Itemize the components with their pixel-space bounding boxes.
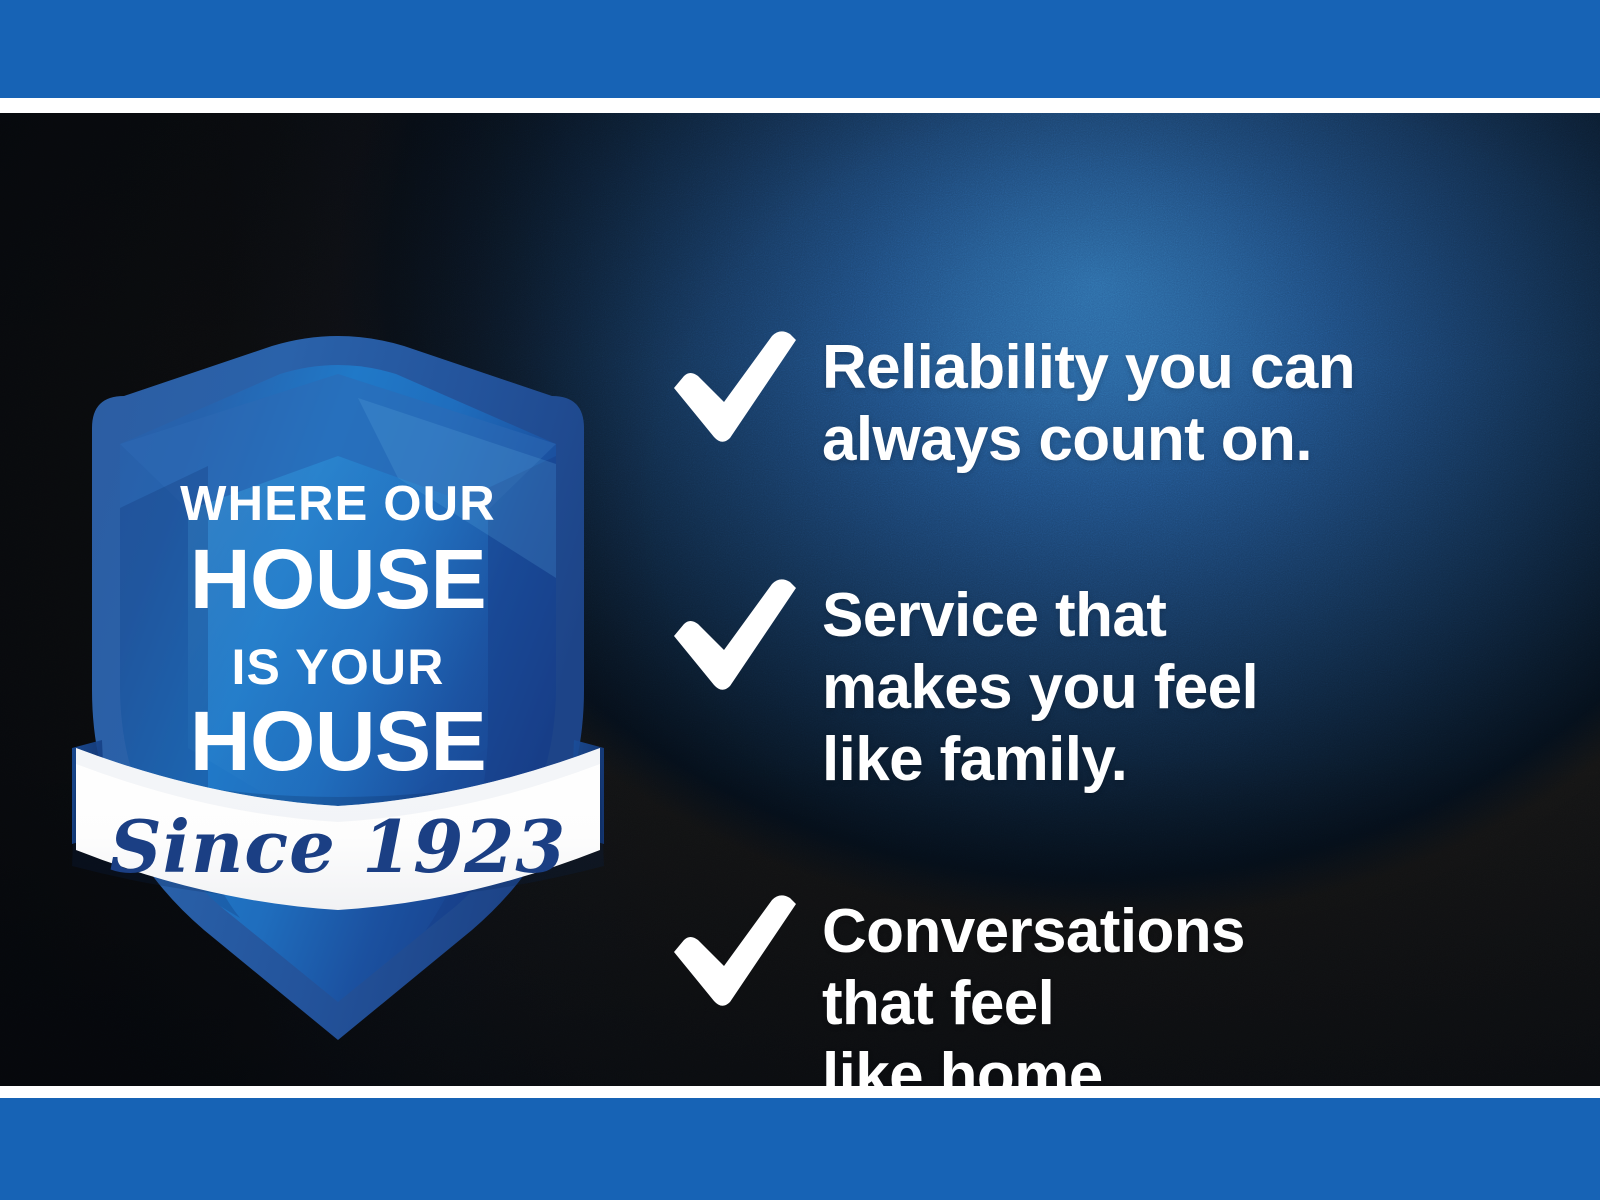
badge-tagline-line-1: WHERE OUR <box>180 477 496 531</box>
badge-tagline-line-4: HOUSE <box>190 694 486 788</box>
list-item: Reliability you can always count on. <box>668 326 1355 476</box>
list-item: Conversations that feel like home. <box>668 890 1245 1086</box>
top-brand-bar <box>0 0 1600 98</box>
checkmark-icon <box>668 890 800 1010</box>
list-item-text: Conversations that feel like home. <box>822 890 1245 1086</box>
checkmark-icon <box>668 574 800 694</box>
promo-graphic: WHERE OUR HOUSE IS YOUR HOUSE <box>0 0 1600 1200</box>
checkmark-icon <box>668 326 800 446</box>
bottom-brand-bar <box>0 1098 1600 1200</box>
benefits-list: Reliability you can always count on. Ser… <box>668 226 1548 1086</box>
badge-since-text: Since 1923 <box>110 804 567 889</box>
main-stage: WHERE OUR HOUSE IS YOUR HOUSE <box>0 113 1600 1086</box>
badge-tagline-line-2: HOUSE <box>190 532 486 626</box>
badge-tagline-line-3: IS YOUR <box>231 639 444 695</box>
list-item-text: Reliability you can always count on. <box>822 326 1355 476</box>
list-item: Service that makes you feel like family. <box>668 574 1258 796</box>
list-item-text: Service that makes you feel like family. <box>822 574 1258 796</box>
company-badge-logo: WHERE OUR HOUSE IS YOUR HOUSE <box>58 278 618 918</box>
